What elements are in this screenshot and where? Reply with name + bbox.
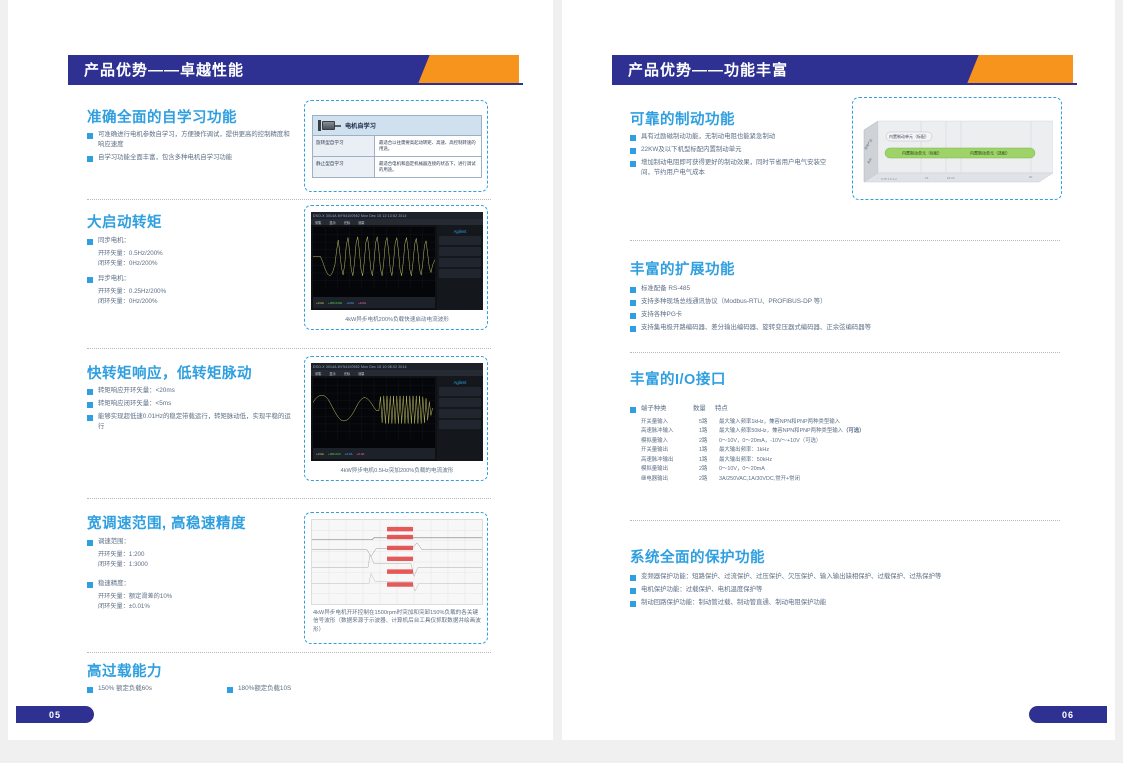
scope-measurement-bar: +0.0A +380.000 +0.0A +0.0A — [313, 448, 435, 459]
spec-line: 闭环矢量：1:3000 — [87, 560, 287, 570]
bullet-text: 异步电机： — [98, 274, 130, 284]
bullet-square-icon — [87, 687, 93, 693]
section-title-braking: 可靠的制动功能 — [630, 108, 735, 129]
bullet-item: 转矩响应开环矢量：<20ms — [87, 386, 292, 396]
bullet-item: 支持多种现场总线通讯协议（Modbus-RTU、PROFIBUS-DP 等） — [630, 297, 880, 307]
bullet-square-icon — [87, 133, 93, 139]
io-type: 模拟量输出 — [641, 465, 699, 474]
section-title-starting-torque: 大启动转矩 — [87, 211, 162, 232]
scope-sidebar: Agilent — [437, 376, 483, 461]
bullet-item: 可准确进行电机参数自学习，方便操作调试，提供更高的控制精度和响应速度 — [87, 130, 292, 150]
table-row: 开关量输入 5路 最大输入频率1kHz，兼容NPN和PNP两种类型输入 — [641, 418, 971, 427]
scope-menu-item: 光标 — [344, 371, 350, 376]
bullet-item: 变频器保护功能：短路保护、过流保护、过压保护、欠压保护、输入输出缺相保护、过载保… — [630, 572, 1040, 582]
spec-line: 闭环矢量：0Hz/200% — [87, 297, 287, 307]
scope-menu-item: 测量 — [358, 220, 364, 225]
bullet-square-icon — [630, 575, 636, 581]
table-cell-desc: 最适合以往需要高起动转矩、高速、高控制转速的用途。 — [375, 136, 481, 156]
bullet-text: 能够实现超低速0.01Hz的稳定带载运行，转矩脉动低，实现平稳的运行 — [98, 412, 292, 432]
bullet-item: 同步电机： — [87, 236, 287, 246]
bullet-square-icon — [630, 300, 636, 306]
table-row: 开关量输出 1路 最大输出频率：1kHz — [641, 446, 971, 455]
io-count: 2路 — [699, 475, 719, 484]
brake-x-tick: 0.75 1.5 2.2 — [881, 177, 897, 181]
io-feature: 最大输入频率50kHz，兼容NPN和PNP两种类型输入（可选） — [719, 427, 971, 436]
bullets-starting-torque: 同步电机： 开环矢量：0.5Hz/200% 闭环矢量：0Hz/200% 异步电机… — [87, 236, 287, 307]
table-row: 继电器输出 2路 3A/250VAC,1A/30VDC,常开+常闭 — [641, 475, 971, 484]
bullet-square-icon — [630, 287, 636, 293]
table-cell-name: 静止型自学习 — [313, 157, 375, 177]
io-type: 高速脉冲输入 — [641, 427, 699, 436]
signal-chart-svg — [312, 520, 482, 604]
bullet-square-icon — [87, 389, 93, 395]
section-title-speed-range: 宽调速范围, 高稳速精度 — [87, 512, 246, 533]
bullet-square-icon — [630, 161, 636, 167]
bullet-item: 支持各种PG卡 — [630, 310, 880, 320]
scope-waveform-grid: +0.0A +380.0000 +0.0A +0.0A — [313, 227, 435, 308]
brake-x-tick: 15 — [925, 176, 929, 180]
page-right: 产品优势——功能丰富 可靠的制动功能 具有过励磁制动功能，无制动电阻也能紧急制动… — [562, 0, 1115, 740]
brake-chart-svg: 内置制动单元（标配） 内置制动单元（标配） 内置制动单元（选配） 适用产品 系列… — [861, 110, 1053, 188]
io-feature: 最大输出频率：50kHz — [719, 456, 971, 465]
bullet-square-icon — [630, 588, 636, 594]
io-feature: 0～10V，0～20mA，-10V～+10V（可选） — [719, 437, 971, 446]
brake-x-tick: 90 — [1029, 175, 1033, 179]
bullets-protection: 变频器保护功能：短路保护、过流保护、过压保护、欠压保护、输入输出缺相保护、过载保… — [630, 572, 1040, 611]
bullet-text: 支持各种PG卡 — [641, 310, 682, 320]
io-count: 1路 — [699, 427, 719, 436]
bullet-text: 转矩响应开环矢量：<20ms — [98, 386, 175, 396]
bullet-item: 增加制动电阻即可获得更好的制动效果，同时节省用户电气安装空间，节约用户电气成本 — [630, 158, 838, 178]
bullet-item: 制动回路保护功能：制动管过载、制动管直通、制动电阻保护功能 — [630, 598, 1040, 608]
bullet-square-icon — [630, 601, 636, 607]
table-row: 模拟量输出 2路 0～10V，0～20mA — [641, 465, 971, 474]
scope-waveform-grid: +0.0A +380.000 +0.0A +0.0A — [313, 378, 435, 459]
table-row: 高速脉冲输出 1路 最大输出频率：50kHz — [641, 456, 971, 465]
brake-bar-label-2: 内置制动单元（选配） — [970, 150, 1010, 156]
table-row: 静止型自学习 最适合电机和面定机械器连接的状态下，进行调试的用途。 — [313, 157, 481, 177]
bullet-item: 22KW及以下机型标配内置制动单元 — [630, 145, 838, 155]
bullet-text: 同步电机： — [98, 236, 130, 246]
io-header-bullet: 端子种类 数量 特点 — [630, 404, 728, 417]
bullet-text: 22KW及以下机型标配内置制动单元 — [641, 145, 741, 155]
bullet-square-icon — [630, 148, 636, 154]
figure-caption: 4kW异步电机200%负载快速启动电流波形 — [315, 316, 479, 324]
brake-callout-label: 内置制动单元（标配） — [889, 133, 929, 139]
bullets-self-learning: 可准确进行电机参数自学习，方便操作调试，提供更高的控制精度和响应速度 自学习功能… — [87, 130, 292, 166]
io-type: 高速脉冲输出 — [641, 456, 699, 465]
spec-line: 开环矢量：额定滑差的10% — [87, 592, 287, 602]
self-learning-figure-frame: 电机自学习 旋转型自学习 最适合以往需要高起动转矩、高速、高控制转速的用途。 静… — [304, 100, 488, 192]
bullet-square-icon — [630, 313, 636, 319]
bullet-text: 电机保护功能：过载保护、电机温度保护等 — [641, 585, 762, 595]
spec-line: 开环矢量：0.25Hz/200% — [87, 287, 287, 297]
figure-frame-load-step: DSO-X 3014A MY54100982 Mon Dec 15 10:08:… — [304, 356, 488, 481]
figure-frame-brake-chart: 内置制动单元（标配） 内置制动单元（标配） 内置制动单元（选配） 适用产品 系列… — [852, 97, 1062, 200]
right-banner-title: 产品优势——功能丰富 — [628, 59, 788, 80]
io-count: 1路 — [699, 456, 719, 465]
brake-range-chart: 内置制动单元（标配） 内置制动单元（标配） 内置制动单元（选配） 适用产品 系列… — [861, 110, 1053, 188]
bullet-item: 稳速精度： — [87, 579, 287, 589]
oscilloscope-screenshot-2: DSO-X 3014A MY54100982 Mon Dec 15 10:08:… — [311, 363, 483, 461]
io-feature: 最大输入频率1kHz，兼容NPN和PNP两种类型输入 — [719, 418, 971, 427]
divider — [630, 352, 1060, 353]
section-title-io: 丰富的I/O接口 — [630, 368, 726, 389]
self-learning-table-header-label: 电机自学习 — [345, 121, 376, 130]
io-header-count: 数量 — [693, 404, 715, 414]
page-number-right: 06 — [1029, 706, 1107, 723]
bullet-text: 具有过励磁制动功能，无制动电阻也能紧急制动 — [641, 132, 775, 142]
bullet-item: 电机保护功能：过载保护、电机温度保护等 — [630, 585, 1040, 595]
bullet-square-icon — [87, 239, 93, 245]
io-count: 2路 — [699, 437, 719, 446]
spec-line: 开环矢量：0.5Hz/200% — [87, 249, 287, 259]
io-header-feature: 特点 — [715, 404, 728, 414]
table-cell-desc: 最适合电机和面定机械器连接的状态下，进行调试的用途。 — [375, 157, 481, 177]
left-banner-title: 产品优势——卓越性能 — [84, 59, 244, 80]
right-banner-underline — [612, 83, 1077, 85]
divider — [87, 652, 491, 653]
bullet-item: 150% 额定负载60s — [87, 684, 227, 694]
bullet-square-icon — [227, 687, 233, 693]
section-title-self-learning: 准确全面的自学习功能 — [87, 106, 237, 127]
bullet-item: 转矩响应闭环矢量：<5ms — [87, 399, 292, 409]
bullet-text: 支持多种现场总线通讯协议（Modbus-RTU、PROFIBUS-DP 等） — [641, 297, 826, 307]
bullet-text: 变频器保护功能：短路保护、过流保护、过压保护、欠压保护、输入输出缺相保护、过载保… — [641, 572, 941, 582]
page-number-left: 05 — [16, 706, 94, 723]
brochure-spread: 产品优势——卓越性能 准确全面的自学习功能 可准确进行电机参数自学习，方便操作调… — [0, 0, 1123, 763]
bullet-text: 标准配备 RS-485 — [641, 284, 690, 294]
bullet-text: 支持集电极开路编码器、差分输出编码器、旋转变压器式编码器、正余弦编码器等 — [641, 323, 871, 333]
divider — [87, 199, 491, 200]
io-type: 模拟量输入 — [641, 437, 699, 446]
bullet-square-icon — [87, 402, 93, 408]
io-count: 1路 — [699, 446, 719, 455]
io-type: 继电器输出 — [641, 475, 699, 484]
divider — [87, 498, 491, 499]
figure-caption: 4kW异步电机开环控制在1500rpm时突加和突卸150%负载的各关键信号波形（… — [313, 609, 481, 634]
io-feature: 最大输出频率：1kHz — [719, 446, 971, 455]
page-left: 产品优势——卓越性能 准确全面的自学习功能 可准确进行电机参数自学习，方便操作调… — [8, 0, 553, 740]
io-feature-emphasis: （可选） — [843, 428, 865, 434]
io-count: 2路 — [699, 465, 719, 474]
scope-measurement-bar: +0.0A +380.0000 +0.0A +0.0A — [313, 297, 435, 308]
bullet-item: 180%额定负载10S — [227, 684, 367, 694]
scope-titlebar: DSO-X 3014A MY54100982 Mon Dec 15 12:13:… — [311, 212, 483, 219]
left-banner-bar: 产品优势——卓越性能 — [68, 55, 438, 83]
left-banner-skew-2 — [456, 55, 519, 83]
waveform-trace — [313, 227, 435, 288]
bullet-item: 标准配备 RS-485 — [630, 284, 880, 294]
table-row: 高速脉冲输入 1路 最大输入频率50kHz，兼容NPN和PNP两种类型输入（可选… — [641, 427, 971, 436]
spec-line: 闭环矢量：0Hz/200% — [87, 259, 287, 269]
scope-menu-item: 显示 — [329, 220, 335, 225]
divider — [630, 240, 1060, 241]
bullet-square-icon — [87, 540, 93, 546]
bullet-item: 端子种类 数量 特点 — [630, 404, 728, 414]
divider — [630, 520, 1060, 521]
io-spec-table: 开关量输入 5路 最大输入频率1kHz，兼容NPN和PNP两种类型输入 高速脉冲… — [641, 418, 971, 484]
scope-menu-item: 光标 — [344, 220, 350, 225]
bullet-text: 制动回路保护功能：制动管过载、制动管直通、制动电阻保护功能 — [641, 598, 826, 608]
bullet-square-icon — [87, 582, 93, 588]
table-row: 模拟量输入 2路 0～10V，0～20mA，-10V～+10V（可选） — [641, 437, 971, 446]
section-title-torque-response: 快转矩响应，低转矩脉动 — [87, 362, 252, 383]
bullet-text: 稳速精度： — [98, 579, 130, 589]
bullet-text: 180%额定负载10S — [238, 684, 291, 694]
bullet-item: 调速范围： — [87, 537, 287, 547]
brake-x-tick: 18 22 — [947, 176, 955, 180]
io-type: 开关量输入 — [641, 418, 699, 427]
scope-brand-label: Agilent — [439, 378, 481, 387]
bullet-item: 具有过励磁制动功能，无制动电阻也能紧急制动 — [630, 132, 838, 142]
figure-frame-signal-waveforms: 4kW异步电机开环控制在1500rpm时突加和突卸150%负载的各关键信号波形（… — [304, 512, 488, 644]
bullet-square-icon — [87, 277, 93, 283]
figure-caption: 4kW异步电机0.5Hz突加200%负载的电流波形 — [315, 467, 479, 475]
bullets-expansion: 标准配备 RS-485 支持多种现场总线通讯协议（Modbus-RTU、PROF… — [630, 284, 880, 336]
bullet-text: 150% 额定负载60s — [98, 684, 152, 694]
bullet-square-icon — [630, 135, 636, 141]
bullet-item: 支持集电极开路编码器、差分输出编码器、旋转变压器式编码器、正余弦编码器等 — [630, 323, 880, 333]
io-type: 开关量输出 — [641, 446, 699, 455]
scope-titlebar: DSO-X 3014A MY54100982 Mon Dec 15 10:08:… — [311, 363, 483, 370]
scope-brand-label: Agilent — [439, 227, 481, 236]
table-row: 旋转型自学习 最适合以往需要高起动转矩、高速、高控制转速的用途。 — [313, 136, 481, 157]
bullet-square-icon — [630, 326, 636, 332]
right-banner: 产品优势——功能丰富 — [612, 55, 1077, 83]
bullet-square-icon — [87, 415, 93, 421]
table-cell-name: 旋转型自学习 — [313, 136, 375, 156]
divider — [87, 348, 491, 349]
bullet-square-icon — [87, 156, 93, 162]
scope-menu-item: 采集 — [315, 371, 321, 376]
bullet-item: 异步电机： — [87, 274, 287, 284]
io-feature: 3A/250VAC,1A/30VDC,常开+常闭 — [719, 475, 971, 484]
oscilloscope-screenshot-1: DSO-X 3014A MY54100982 Mon Dec 15 12:13:… — [311, 212, 483, 310]
figure-frame-startup-current: DSO-X 3014A MY54100982 Mon Dec 15 12:13:… — [304, 205, 488, 330]
bullet-item: 自学习功能全面丰富，包含多种电机自学习功能 — [87, 153, 292, 163]
scope-menu-item: 测量 — [358, 371, 364, 376]
bullets-speed-range: 调速范围： 开环矢量：1:200 闭环矢量：1:3000 稳速精度： 开环矢量：… — [87, 537, 287, 612]
bullets-overload: 150% 额定负载60s 180%额定负载10S — [87, 684, 367, 697]
bullet-item: 能够实现超低速0.01Hz的稳定带载运行，转矩脉动低，实现平稳的运行 — [87, 412, 292, 432]
io-header-type: 端子种类 — [641, 404, 693, 414]
scope-body: +0.0A +380.0000 +0.0A +0.0A Agilent — [311, 225, 483, 310]
right-banner-skew-2 — [1005, 55, 1073, 83]
scope-body: +0.0A +380.000 +0.0A +0.0A Agilent — [311, 376, 483, 461]
section-title-protection: 系统全面的保护功能 — [630, 546, 765, 567]
bullet-text: 转矩响应闭环矢量：<5ms — [98, 399, 171, 409]
signal-chart — [311, 519, 483, 605]
spec-line: 开环矢量：1:200 — [87, 550, 287, 560]
bullets-torque-response: 转矩响应开环矢量：<20ms 转矩响应闭环矢量：<5ms 能够实现超低速0.01… — [87, 386, 292, 435]
scope-menu-item: 显示 — [329, 371, 335, 376]
self-learning-table-header: 电机自学习 — [313, 116, 481, 136]
bullet-text: 增加制动电阻即可获得更好的制动效果，同时节省用户电气安装空间，节约用户电气成本 — [641, 158, 838, 178]
motor-icon — [318, 120, 341, 131]
io-count: 5路 — [699, 418, 719, 427]
bullet-text: 自学习功能全面丰富，包含多种电机自学习功能 — [98, 153, 232, 163]
spec-line: 闭环矢量：±0.01% — [87, 602, 287, 612]
scope-menu-item: 采集 — [315, 220, 321, 225]
right-banner-bar: 产品优势——功能丰富 — [612, 55, 987, 83]
bullet-text: 调速范围： — [98, 537, 130, 547]
brake-bar-label-1: 内置制动单元（标配） — [902, 150, 942, 156]
left-banner-underline — [68, 83, 523, 85]
self-learning-table: 电机自学习 旋转型自学习 最适合以往需要高起动转矩、高速、高控制转速的用途。 静… — [312, 115, 482, 178]
section-title-expansion: 丰富的扩展功能 — [630, 258, 735, 279]
scope-sidebar: Agilent — [437, 225, 483, 310]
waveform-trace — [313, 378, 435, 439]
io-feature: 0～10V，0～20mA — [719, 465, 971, 474]
bullet-text: 可准确进行电机参数自学习，方便操作调试，提供更高的控制精度和响应速度 — [98, 130, 292, 150]
bullet-square-icon — [630, 407, 636, 413]
left-banner: 产品优势——卓越性能 — [68, 55, 523, 83]
section-title-overload: 高过载能力 — [87, 660, 162, 681]
bullets-braking: 具有过励磁制动功能，无制动电阻也能紧急制动 22KW及以下机型标配内置制动单元 … — [630, 132, 838, 181]
